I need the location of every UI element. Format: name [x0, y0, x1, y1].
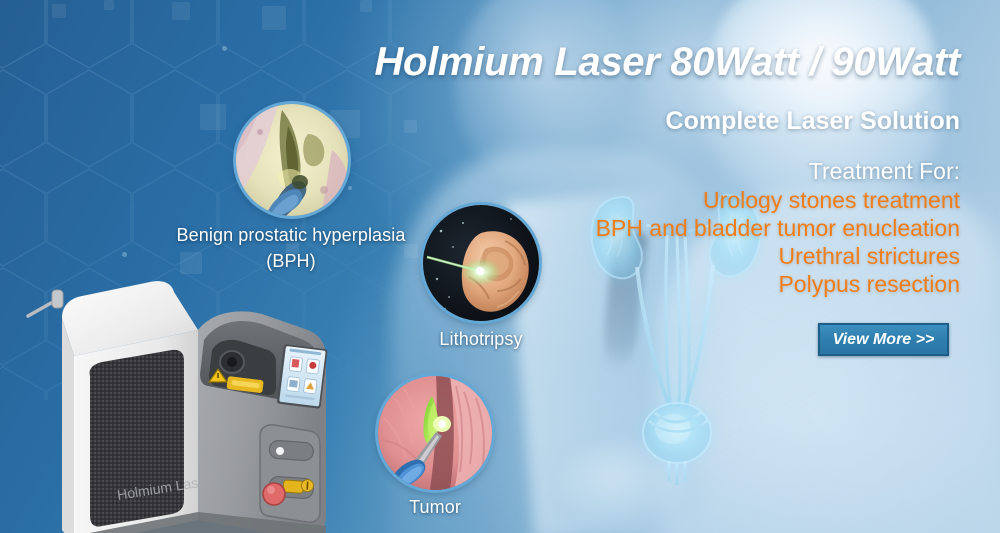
key-switch-icon — [283, 478, 314, 494]
treatment-item: Urology stones treatment — [430, 186, 960, 214]
page-title: Holmium Laser 80Watt / 90Watt — [330, 40, 960, 85]
treatment-item: BPH and bladder tumor enucleation — [430, 214, 960, 242]
treatment-list: Urology stones treatment BPH and bladder… — [430, 186, 960, 298]
subtitle: Complete Laser Solution — [430, 107, 960, 136]
badge-caption-tumor: Tumor — [365, 494, 505, 520]
treatment-item: Urethral strictures — [430, 242, 960, 270]
badge-caption-lithotripsy: Lithotripsy — [401, 326, 561, 352]
emergency-stop-icon — [263, 483, 285, 505]
laser-machine-icon: Holmium Laser — [22, 268, 352, 533]
badge-caption-bph: Benign prostatic hyperplasia (BPH) — [160, 222, 422, 274]
treatment-item: Polypus resection — [430, 270, 960, 298]
machine-brand-label: Holmium Laser — [116, 472, 212, 503]
view-more-button[interactable]: View More >> — [818, 323, 949, 356]
badge-image-bph[interactable] — [236, 104, 348, 216]
promo-banner: Holmium Laser — [0, 0, 1000, 533]
treatment-for-label: Treatment For: — [540, 158, 960, 185]
badge-image-tumor[interactable] — [378, 376, 492, 490]
